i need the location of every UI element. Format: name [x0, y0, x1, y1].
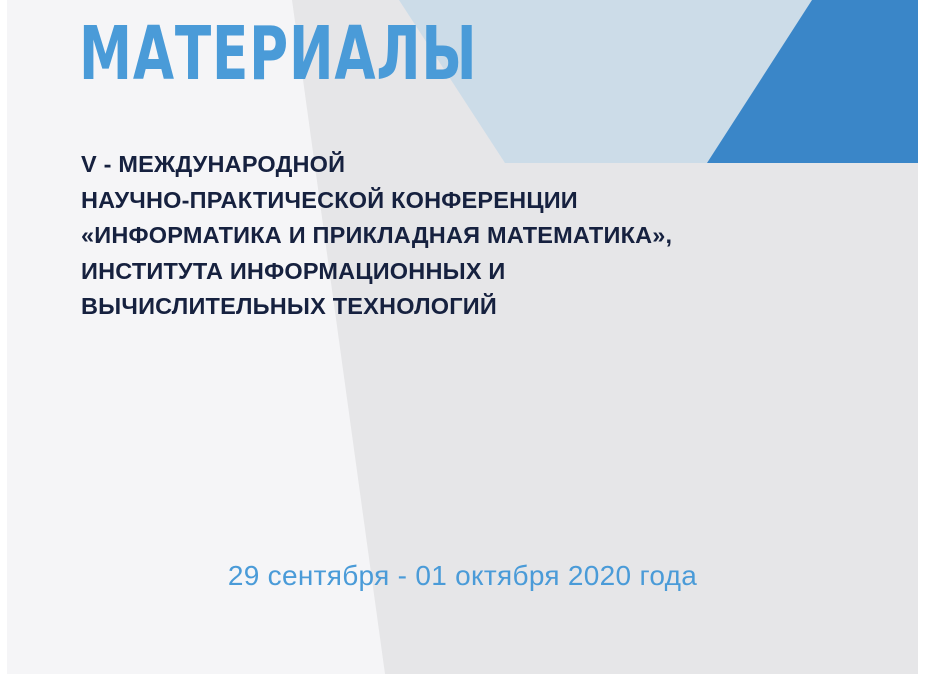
conference-date: 29 сентября - 01 октября 2020 года	[7, 560, 918, 592]
cover-content: МАТЕРИАЛЫ V - МЕЖДУНАРОДНОЙ НАУЧНО-ПРАКТ…	[7, 0, 918, 674]
conference-subtitle: V - МЕЖДУНАРОДНОЙ НАУЧНО-ПРАКТИЧЕСКОЙ КО…	[81, 147, 901, 325]
conference-proceedings-cover: МАТЕРИАЛЫ V - МЕЖДУНАРОДНОЙ НАУЧНО-ПРАКТ…	[0, 0, 925, 681]
cover-page: МАТЕРИАЛЫ V - МЕЖДУНАРОДНОЙ НАУЧНО-ПРАКТ…	[7, 0, 918, 674]
page-title-materialy: МАТЕРИАЛЫ	[79, 14, 477, 94]
subtitle-line-3: «ИНФОРМАТИКА И ПРИКЛАДНАЯ МАТЕМАТИКА»,	[81, 218, 901, 254]
subtitle-line-4: ИНСТИТУТА ИНФОРМАЦИОННЫХ И	[81, 254, 901, 290]
subtitle-line-2: НАУЧНО-ПРАКТИЧЕСКОЙ КОНФЕРЕНЦИИ	[81, 183, 901, 219]
subtitle-line-5: ВЫЧИСЛИТЕЛЬНЫХ ТЕХНОЛОГИЙ	[81, 289, 901, 325]
subtitle-line-1: V - МЕЖДУНАРОДНОЙ	[81, 147, 901, 183]
